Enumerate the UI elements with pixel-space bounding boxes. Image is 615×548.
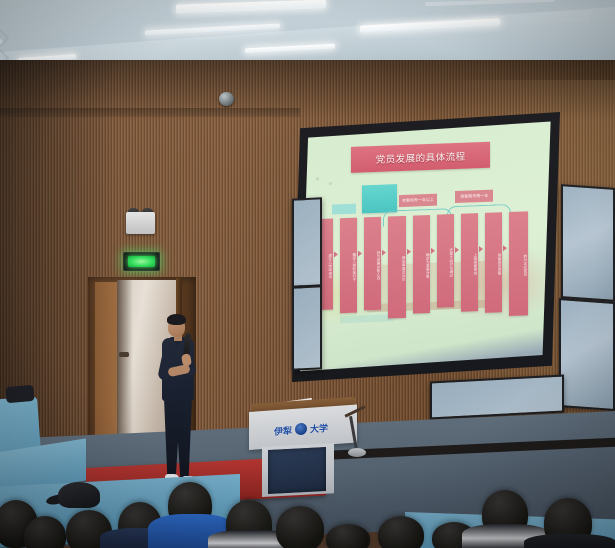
lecture-hall-photo: 党员发展的具体流程 考察培养一年以上 预备期考察一年 递交入党申请书 确定入党积… <box>0 0 615 548</box>
slide-cyan-box <box>362 184 397 213</box>
slide-flow-step: 政治审查及公示 <box>388 216 406 318</box>
wall-monitor-left-upper <box>292 197 322 288</box>
university-emblem-icon <box>295 423 307 436</box>
slide-flow-arrow <box>358 250 362 256</box>
wall-monitor-left-lower <box>292 285 322 371</box>
exit-sign <box>123 252 160 271</box>
slide-flow-step: 列为发展对象人选 <box>364 217 381 310</box>
slide-flow-step: 预备党员宣誓 <box>485 212 502 312</box>
slide-watermark-birds <box>308 171 340 189</box>
slide-flow-step: 确定入党积极分子 <box>340 218 357 314</box>
projected-slide: 党员发展的具体流程 考察培养一年以上 预备期考察一年 递交入党申请书 确定入党积… <box>292 112 560 382</box>
ceiling-speaker-icon <box>219 92 234 106</box>
slide-group-label-2: 预备期考察一年 <box>455 189 493 202</box>
wall-monitor-right-upper <box>561 184 615 302</box>
audience-shoulders <box>524 534 615 548</box>
slide-flow-step: 上级党委审批 <box>461 213 478 311</box>
audience-cap <box>58 482 100 508</box>
slide-flow-arrow <box>431 247 435 253</box>
slide-group-label-1: 考察培养一年以上 <box>399 193 437 206</box>
slide-flow-arrow <box>382 249 386 255</box>
slide-flow-step: 支部大会讨论通过 <box>437 214 454 308</box>
lectern-brand-left: 伊犁 <box>274 423 292 437</box>
lectern-front-panel <box>268 447 326 494</box>
slide-flow-arrow <box>407 248 411 254</box>
presenter-hair <box>167 314 186 325</box>
exit-icon <box>128 256 155 267</box>
slide-flow-step: 转为正式党员 <box>509 211 528 315</box>
slide-flow-arrow <box>479 245 483 251</box>
projection-screen: 党员发展的具体流程 考察培养一年以上 预备期考察一年 递交入党申请书 确定入党积… <box>292 112 560 382</box>
lectern-mic-base <box>348 448 366 457</box>
audience-head <box>378 516 424 548</box>
audience-head <box>24 516 66 548</box>
wall-monitor-right-lower <box>559 298 615 411</box>
audience-head <box>276 506 324 548</box>
door-handle[interactable] <box>119 352 129 357</box>
presenter-hand <box>181 353 192 366</box>
slide-cyan-bar <box>332 204 356 215</box>
audience-head <box>326 524 370 548</box>
emergency-light <box>126 212 155 234</box>
slide-watermark-cyan-bar <box>340 313 394 323</box>
slide-flow-step: 确定为发展对象 <box>413 215 431 313</box>
slide-content: 党员发展的具体流程 考察培养一年以上 预备期考察一年 递交入党申请书 确定入党积… <box>292 124 560 350</box>
slide-flow-arrow <box>334 251 338 257</box>
lectern-brand-right: 大学 <box>310 421 328 435</box>
wall-upper-band <box>0 108 300 117</box>
slide-flow-arrow <box>455 246 459 252</box>
slide-flow-arrow <box>503 245 507 251</box>
wall-monitor-lower-center <box>430 374 564 419</box>
left-seat-dark-object <box>5 385 34 403</box>
slide-title: 党员发展的具体流程 <box>351 141 490 172</box>
